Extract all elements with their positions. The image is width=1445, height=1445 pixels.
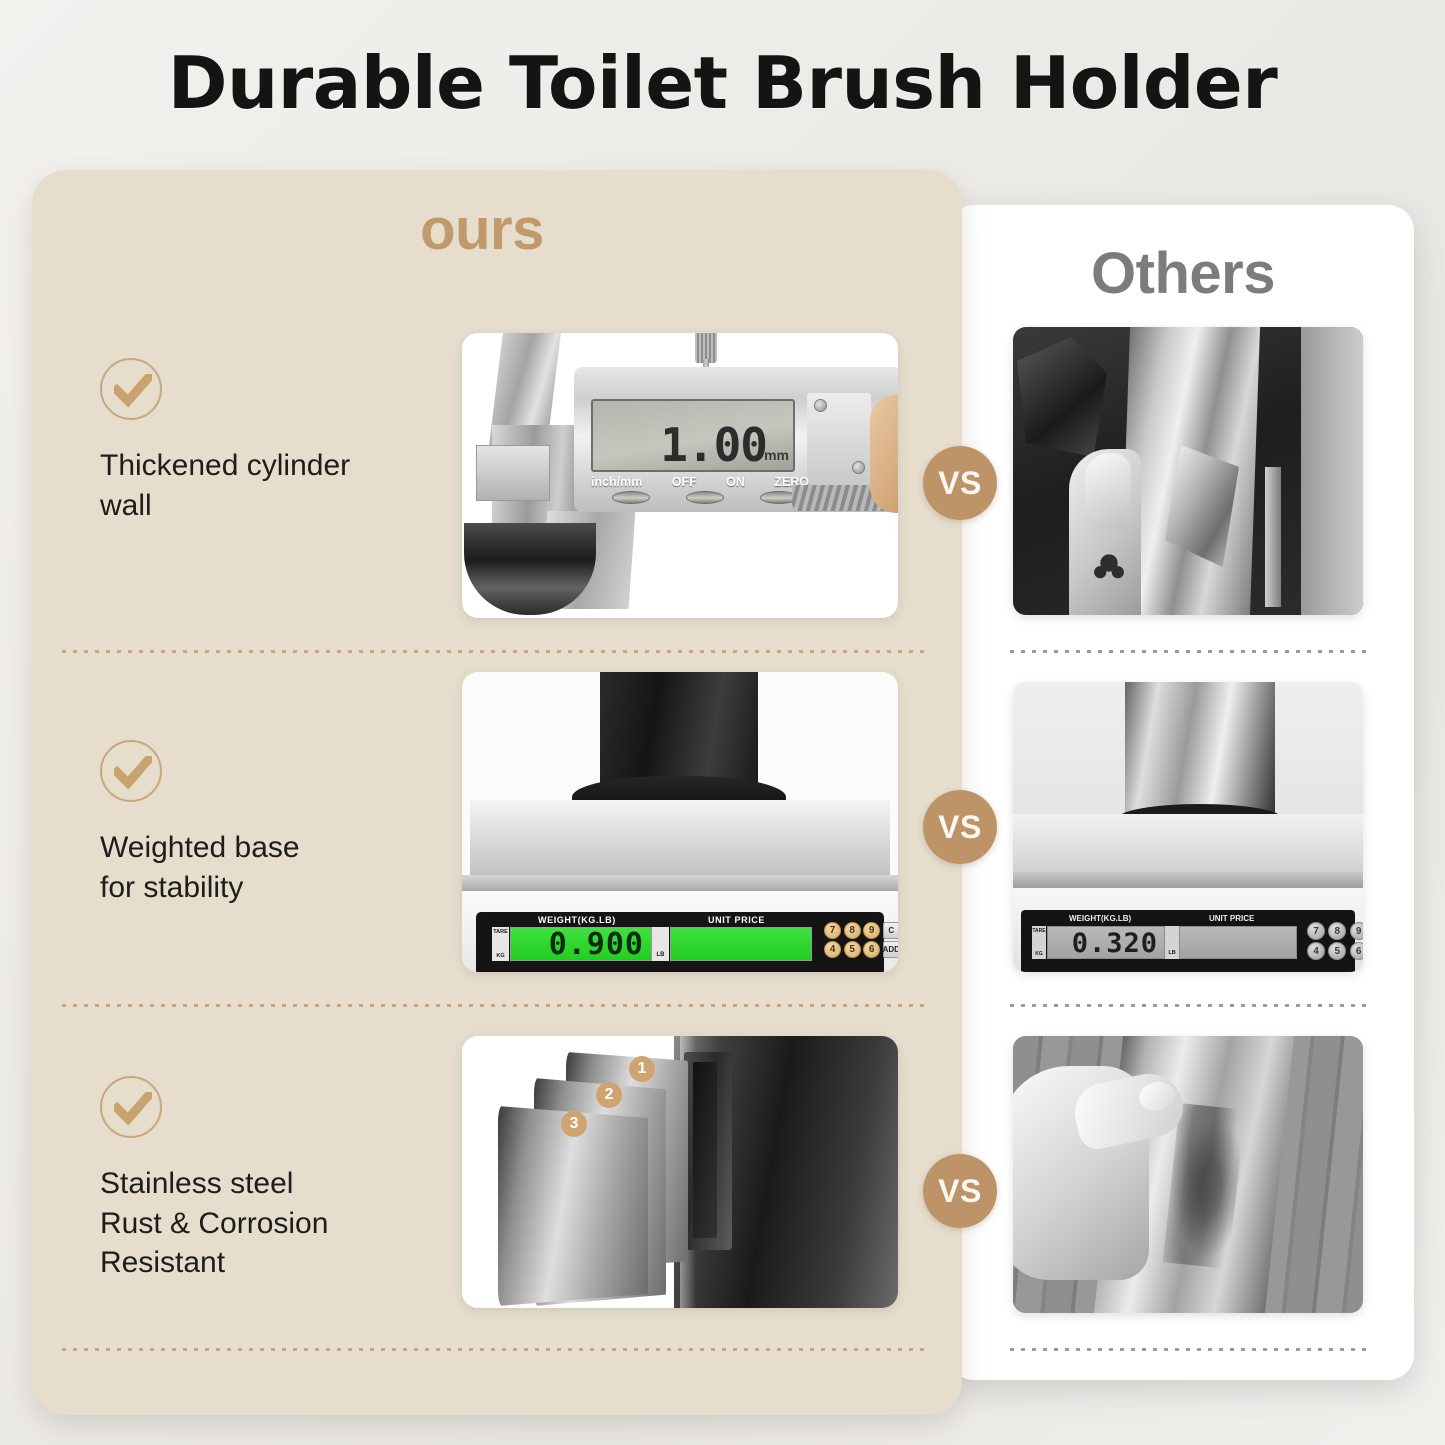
caliper-button-labels: inch/mm OFF ON ZERO xyxy=(591,475,809,489)
others-scale-lb-label: LB xyxy=(1168,950,1175,956)
check-icon xyxy=(100,358,162,420)
others-scale-weight-caption: WEIGHT(KG.LB) xyxy=(1069,914,1131,923)
caliper-jaw-block xyxy=(476,445,550,501)
ours-photo-thickened-cylinder-wall: 1.00 mm inch/mm OFF ON ZERO xyxy=(462,333,898,618)
scale-unitprice-display xyxy=(670,927,812,961)
scale-weight-value: 0.900 xyxy=(549,928,644,962)
others-photo-rusted-cylinder xyxy=(1013,1036,1363,1313)
divider-dots-ours-1 xyxy=(62,650,928,653)
caliper-button-onoff xyxy=(686,491,724,504)
layer-number-badge-3: 3 xyxy=(561,1111,587,1137)
scale-weighing-plate xyxy=(470,800,890,878)
wrist-tattoo xyxy=(1089,549,1129,589)
scale-key-8[interactable]: 8 xyxy=(844,922,861,939)
caliper-lcd-screen: 1.00 mm xyxy=(591,399,795,472)
others-scale-key-6[interactable]: 6 xyxy=(1350,942,1363,960)
feature-item-3: Stainless steel Rust & Corrosion Resista… xyxy=(100,1076,430,1283)
scale-kg-label: KG xyxy=(496,953,504,959)
others-photo-thin-cylinder-dent xyxy=(1013,327,1363,615)
check-icon-glyph xyxy=(114,756,152,790)
caliper-buttons xyxy=(612,491,798,504)
others-steel-cylinder xyxy=(1125,682,1275,820)
others-scale-plate-edge xyxy=(1013,872,1363,888)
cylinder-slot-inner xyxy=(693,1062,717,1238)
scale-key-9[interactable]: 9 xyxy=(863,922,880,939)
ours-photo-weighted-base: WEIGHT(KG.LB) UNIT PRICE TARE KG 0.900 L… xyxy=(462,672,898,972)
scale-lb-label: LB xyxy=(657,952,665,958)
others-scale-unitprice-display xyxy=(1179,926,1297,959)
check-icon xyxy=(100,740,162,802)
vs-badge-1: VS xyxy=(923,446,997,520)
scale-key-7[interactable]: 7 xyxy=(824,922,841,939)
background-wall-panel xyxy=(1301,327,1363,615)
others-scale-key-8[interactable]: 8 xyxy=(1328,922,1346,940)
caliper-screw-icon-bottom xyxy=(852,461,865,474)
scale-tare-label: TARE xyxy=(493,929,508,935)
ours-photo-stainless-steel-layers: 1 2 3 xyxy=(462,1036,898,1308)
others-scale-key-4[interactable]: 4 xyxy=(1307,942,1325,960)
others-scale-weight-value: 0.320 xyxy=(1072,927,1158,960)
caliper-label-inchmm: inch/mm xyxy=(591,475,642,489)
vs-badge-3: VS xyxy=(923,1154,997,1228)
check-icon-glyph xyxy=(114,1092,152,1126)
page-title-container: Durable Toilet Brush Holder xyxy=(0,0,1445,165)
scale-key-5[interactable]: 5 xyxy=(844,941,861,958)
others-scale-tare-label: TARE xyxy=(1032,928,1045,934)
caliper-screw-icon-top xyxy=(814,399,827,412)
divider-dots-others-3 xyxy=(1010,1348,1366,1351)
divider-dots-others-1 xyxy=(1010,650,1366,653)
vs-badge-2: VS xyxy=(923,790,997,864)
thumb xyxy=(1085,453,1131,529)
column-header-others: Others xyxy=(968,240,1398,307)
scale-key-clear[interactable]: C xyxy=(883,922,898,939)
scale-tare-indicator: TARE KG xyxy=(492,927,509,961)
feature-item-2: Weighted base for stability xyxy=(100,740,430,907)
scale-weight-caption: WEIGHT(KG.LB) xyxy=(538,915,616,925)
others-scale-key-7[interactable]: 7 xyxy=(1307,922,1325,940)
scale-unitprice-caption: UNIT PRICE xyxy=(708,915,765,925)
others-scale-keypad: 7 8 9 4 5 6 xyxy=(1307,922,1363,960)
feature-label-3: Stainless steel Rust & Corrosion Resista… xyxy=(100,1164,430,1283)
scale-key-4[interactable]: 4 xyxy=(824,941,841,958)
others-scale-kg-label: KG xyxy=(1035,951,1043,957)
others-scale-control-panel: WEIGHT(KG.LB) UNIT PRICE TARE KG 0.320 L… xyxy=(1021,910,1355,972)
black-cylinder-body xyxy=(600,672,758,788)
caliper-button-inchmm xyxy=(612,491,650,504)
others-scale-plate xyxy=(1013,814,1363,876)
scale-keypad: 7 8 9 C 4 5 6 ADD xyxy=(824,922,898,958)
others-scale-lb-indicator: LB xyxy=(1165,926,1179,959)
scale-lb-indicator: LB xyxy=(652,927,669,961)
others-scale-unitprice-caption: UNIT PRICE xyxy=(1209,914,1254,923)
scale-weight-display: 0.900 xyxy=(510,927,652,961)
layer-number-badge-2: 2 xyxy=(596,1082,622,1108)
divider-dots-ours-2 xyxy=(62,1004,928,1007)
column-header-ours: ours xyxy=(32,196,932,263)
others-scale-key-9[interactable]: 9 xyxy=(1350,922,1363,940)
scale-key-add[interactable]: ADD xyxy=(883,941,898,958)
others-scale-weight-display: 0.320 xyxy=(1047,926,1165,959)
scale-control-panel: WEIGHT(KG.LB) UNIT PRICE TARE KG 0.900 L… xyxy=(476,912,884,972)
others-scale-key-5[interactable]: 5 xyxy=(1328,942,1346,960)
others-photo-lightweight-base: WEIGHT(KG.LB) UNIT PRICE TARE KG 0.320 L… xyxy=(1013,682,1363,972)
hand-holding-caliper xyxy=(870,395,898,513)
page-title: Durable Toilet Brush Holder xyxy=(168,41,1278,125)
others-scale-tare-indicator: TARE KG xyxy=(1032,926,1046,959)
scale-key-6[interactable]: 6 xyxy=(863,941,880,958)
background-rail xyxy=(1265,467,1281,607)
feature-item-1: Thickened cylinder wall xyxy=(100,358,430,525)
divider-dots-ours-3 xyxy=(62,1348,928,1351)
check-icon xyxy=(100,1076,162,1138)
caliper-reading-value: 1.00 xyxy=(660,422,767,468)
layer-number-badge-1: 1 xyxy=(629,1056,655,1082)
scale-plate-edge xyxy=(462,875,898,891)
caliper-reading-unit: mm xyxy=(764,447,789,463)
caliper-label-on: ON xyxy=(726,475,745,489)
divider-dots-others-2 xyxy=(1010,1004,1366,1007)
caliper-label-off: OFF xyxy=(672,475,697,489)
check-icon-glyph xyxy=(114,374,152,408)
feature-label-2: Weighted base for stability xyxy=(100,828,430,907)
feature-label-1: Thickened cylinder wall xyxy=(100,446,430,525)
